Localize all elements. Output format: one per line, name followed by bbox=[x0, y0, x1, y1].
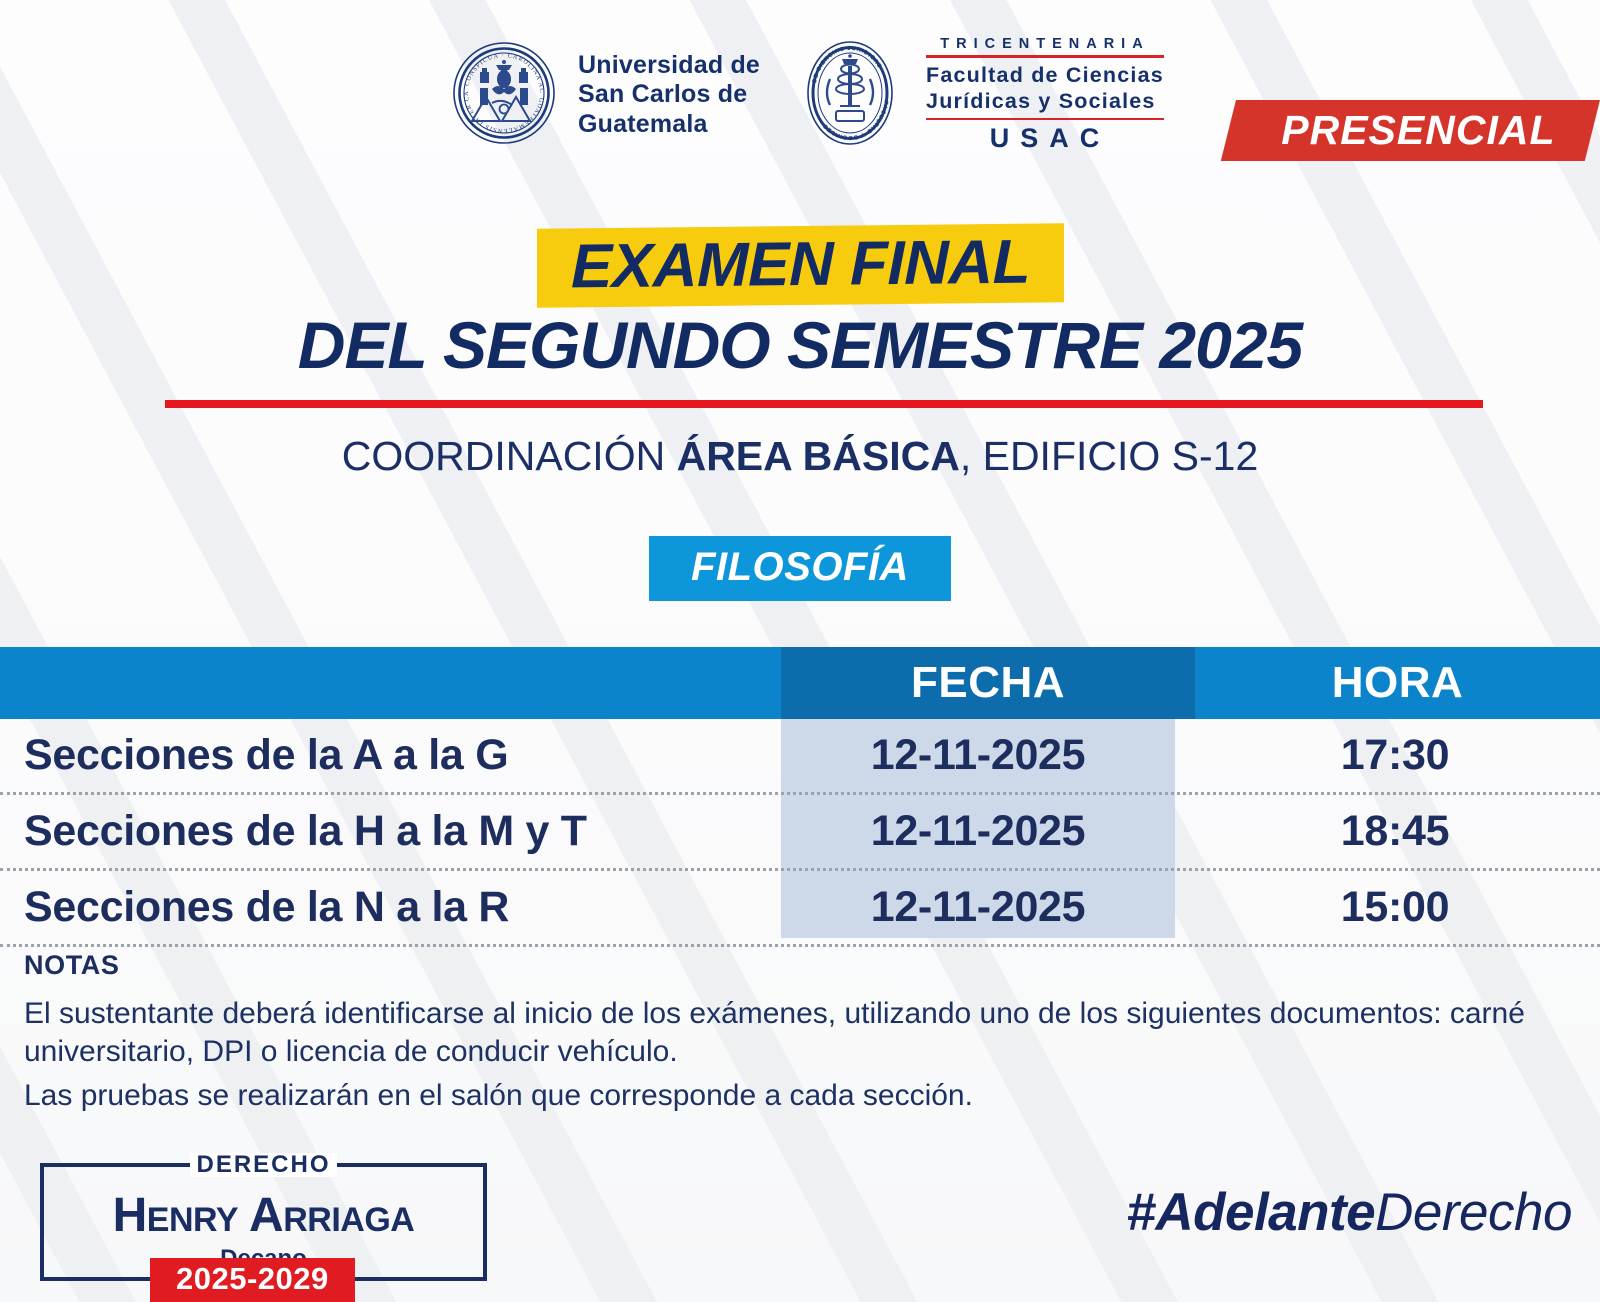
row-section: Secciones de la A a la G bbox=[24, 719, 508, 792]
poster-canvas: CONSPICUA · CAROLINA ACADEMIA GOATHEMALE… bbox=[0, 0, 1600, 1302]
dean-term-badge: 2025-2029 bbox=[150, 1258, 355, 1302]
campaign-hashtag: #AdelanteDerecho bbox=[1126, 1182, 1572, 1243]
modality-badge: PRESENCIAL bbox=[1221, 100, 1600, 161]
dean-derecho-label-row: DERECHO bbox=[44, 1153, 483, 1177]
notes-paragraph: El sustentante deberá identificarse al i… bbox=[24, 995, 1580, 1071]
row-section: Secciones de la H a la M y T bbox=[24, 795, 587, 868]
row-hora: 15:00 bbox=[1195, 871, 1595, 944]
hashtag-light-part: Derecho bbox=[1375, 1183, 1572, 1242]
row-hora: 17:30 bbox=[1195, 719, 1595, 792]
usac-wordmark-line-2: San Carlos de bbox=[578, 80, 760, 110]
coordination-line: COORDINACIÓN ÁREA BÁSICA, EDIFICIO S-12 bbox=[0, 434, 1600, 479]
faculty-wordmark: TRICENTENARIA Facultad de Ciencias Juríd… bbox=[926, 36, 1164, 154]
column-header-fecha: FECHA bbox=[781, 647, 1195, 719]
exam-title-highlight: EXAMEN FINAL bbox=[537, 223, 1064, 308]
notes-title: NOTAS bbox=[24, 950, 1580, 981]
column-header-hora: HORA bbox=[1195, 647, 1600, 719]
exam-subtitle-prefix: DEL bbox=[298, 308, 443, 382]
coordination-suffix: , EDIFICIO S-12 bbox=[960, 433, 1258, 479]
exam-subtitle-main: SEGUNDO SEMESTRE 2025 bbox=[443, 308, 1302, 382]
schedule-table: FECHA HORA Secciones de la A a la G 12-1… bbox=[0, 647, 1600, 947]
table-row: Secciones de la A a la G 12-11-2025 17:3… bbox=[0, 719, 1600, 795]
usac-wordmark-line-3: Guatemala bbox=[578, 110, 760, 140]
row-fecha: 12-11-2025 bbox=[781, 871, 1175, 944]
faculty-rule-bottom bbox=[926, 118, 1164, 121]
table-row: Secciones de la H a la M y T 12-11-2025 … bbox=[0, 795, 1600, 871]
usac-wordmark: Universidad de San Carlos de Guatemala bbox=[578, 51, 760, 140]
dean-name: Henry Arriaga bbox=[44, 1191, 483, 1241]
faculty-rule-top bbox=[926, 55, 1164, 58]
row-fecha: 12-11-2025 bbox=[781, 719, 1175, 792]
dean-rule-left bbox=[100, 1163, 178, 1167]
row-hora: 18:45 bbox=[1195, 795, 1595, 868]
dean-derecho-label: DERECHO bbox=[190, 1153, 336, 1177]
institutional-logos: CONSPICUA · CAROLINA ACADEMIA GOATHEMALE… bbox=[452, 36, 1164, 154]
schedule-table-body: Secciones de la A a la G 12-11-2025 17:3… bbox=[0, 719, 1600, 947]
modality-badge-label: PRESENCIAL bbox=[1228, 100, 1592, 161]
faculty-usac-label: USAC bbox=[926, 123, 1164, 154]
course-badge: FILOSOFÍA bbox=[0, 536, 1600, 601]
dean-rule-right bbox=[349, 1163, 427, 1167]
notes-section: NOTAS El sustentante deberá identificars… bbox=[24, 950, 1580, 1120]
row-fecha: 12-11-2025 bbox=[781, 795, 1175, 868]
faculty-name-line-1: Facultad de Ciencias bbox=[926, 62, 1164, 88]
table-row: Secciones de la N a la R 12-11-2025 15:0… bbox=[0, 871, 1600, 947]
notes-paragraph: Las pruebas se realizarán en el salón qu… bbox=[24, 1077, 1580, 1115]
usac-wordmark-line-1: Universidad de bbox=[578, 51, 760, 81]
title-block: EXAMEN FINAL DEL SEGUNDO SEMESTRE 2025 bbox=[0, 226, 1600, 381]
usac-seal-icon: CONSPICUA · CAROLINA ACADEMIA GOATHEMALE… bbox=[452, 41, 556, 150]
faculty-name-line-2: Jurídicas y Sociales bbox=[926, 88, 1164, 114]
hashtag-bold-part: #Adelante bbox=[1126, 1183, 1375, 1242]
poster-header: CONSPICUA · CAROLINA ACADEMIA GOATHEMALE… bbox=[0, 0, 1600, 190]
faculty-seal-icon: DE CIENCIAS JURIDICAS FACULTAD Y SOCIALE… bbox=[806, 39, 894, 152]
coordination-prefix: COORDINACIÓN bbox=[342, 433, 677, 479]
exam-subtitle-line: DEL SEGUNDO SEMESTRE 2025 bbox=[0, 311, 1600, 381]
row-section: Secciones de la N a la R bbox=[24, 871, 509, 944]
coordination-area: ÁREA BÁSICA bbox=[677, 433, 960, 479]
title-red-rule bbox=[165, 400, 1483, 408]
schedule-table-header: FECHA HORA bbox=[0, 647, 1600, 719]
course-badge-label: FILOSOFÍA bbox=[649, 536, 951, 601]
faculty-tricentenaria-label: TRICENTENARIA bbox=[926, 36, 1164, 52]
